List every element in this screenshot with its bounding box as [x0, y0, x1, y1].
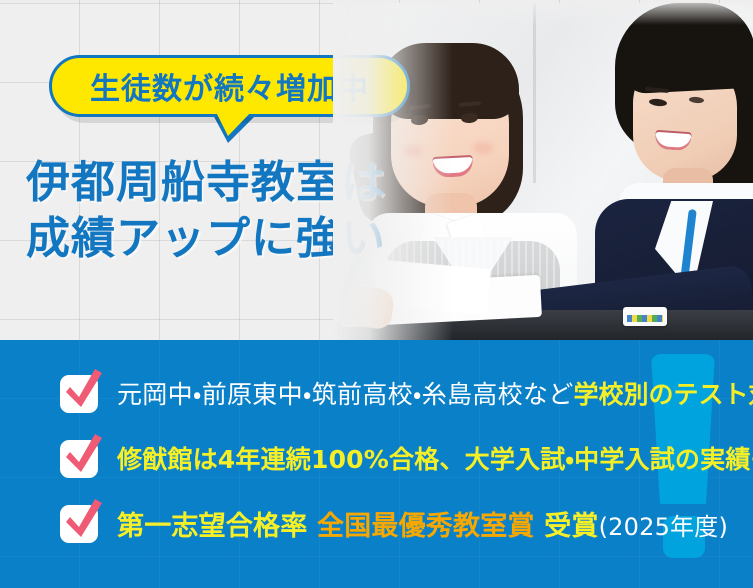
feature-text: 第一志望合格率 全国最優秀教室賞 受賞(2025年度) [117, 504, 728, 543]
feature-row: 第一志望合格率 全国最優秀教室賞 受賞(2025年度) [58, 500, 728, 546]
features-band: 元岡中・前原東中・筑前高校・糸島高校など学校別のテスト対策修猷館は4年連続100… [0, 340, 753, 588]
photo-left-fade [333, 3, 453, 340]
student-cheek-right [473, 142, 493, 154]
hero-photo [333, 3, 753, 340]
headline-line-2: 成績アップに強い [26, 211, 386, 267]
hero-section: 生徒数が続々増加中 伊都周船寺教室は 成績アップに強い [0, 3, 753, 340]
page-title: 伊都周船寺教室は 成績アップに強い [26, 155, 386, 268]
feature-row: 元岡中・前原東中・筑前高校・糸島高校など学校別のテスト対策 [58, 370, 753, 416]
feature-text: 修猷館は4年連続100%合格、大学入試・中学入試の実績も多数 [117, 440, 753, 476]
feature-text-segment: 元岡中・前原東中・筑前高校・糸島高校など [117, 380, 574, 409]
banner-root: 生徒数が続々増加中 伊都周船寺教室は 成績アップに強い 元岡中・前原東中・筑前高… [0, 0, 753, 588]
check-icon [58, 371, 102, 415]
photo-wall-edge-secondary [533, 3, 536, 183]
feature-text-segment: 修猷館は4年連続100%合格、大学入試・中学入試の実績も多数 [117, 445, 753, 474]
check-mark-icon [60, 432, 104, 478]
feature-text-segment: 学校別のテスト対策 [574, 380, 753, 409]
feature-row: 修猷館は4年連続100%合格、大学入試・中学入試の実績も多数 [58, 435, 753, 481]
feature-text: 元岡中・前原東中・筑前高校・糸島高校など学校別のテスト対策 [117, 375, 753, 411]
check-mark-icon [60, 367, 104, 413]
feature-text-segment: 第一志望合格率 [117, 511, 317, 542]
feature-list: 元岡中・前原東中・筑前高校・糸島高校など学校別のテスト対策修猷館は4年連続100… [0, 340, 753, 588]
check-mark-icon [60, 497, 104, 543]
teacher-bangs [622, 28, 753, 95]
feature-text-segment: (2025年度) [599, 513, 728, 541]
check-icon [58, 501, 102, 545]
speech-bubble-tail-fill-icon [215, 110, 253, 136]
feature-text-segment: 受賞 [544, 511, 598, 542]
check-icon [58, 436, 102, 480]
headline-line-1: 伊都周船寺教室は [26, 155, 386, 211]
eraser-sleeve [627, 315, 663, 322]
feature-text-segment: 全国最優秀教室賞 [317, 511, 544, 542]
